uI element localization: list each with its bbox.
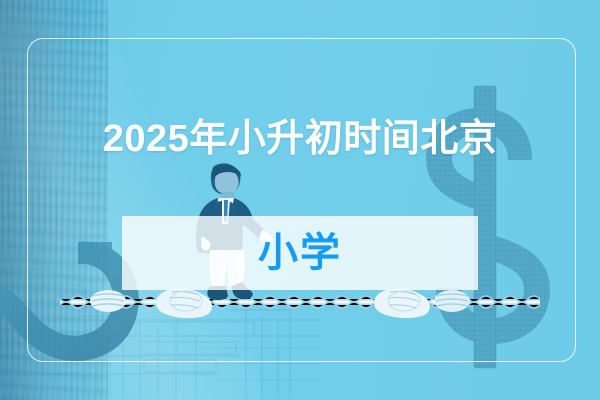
promo-banner: 2025年小升初时间北京 小学 [0,0,600,400]
page-title: 2025年小升初时间北京 [0,116,600,162]
subtitle-label: 小学 [258,229,342,277]
subtitle-band: 小学 [122,216,478,290]
banner-content: 2025年小升初时间北京 小学 [0,0,600,400]
